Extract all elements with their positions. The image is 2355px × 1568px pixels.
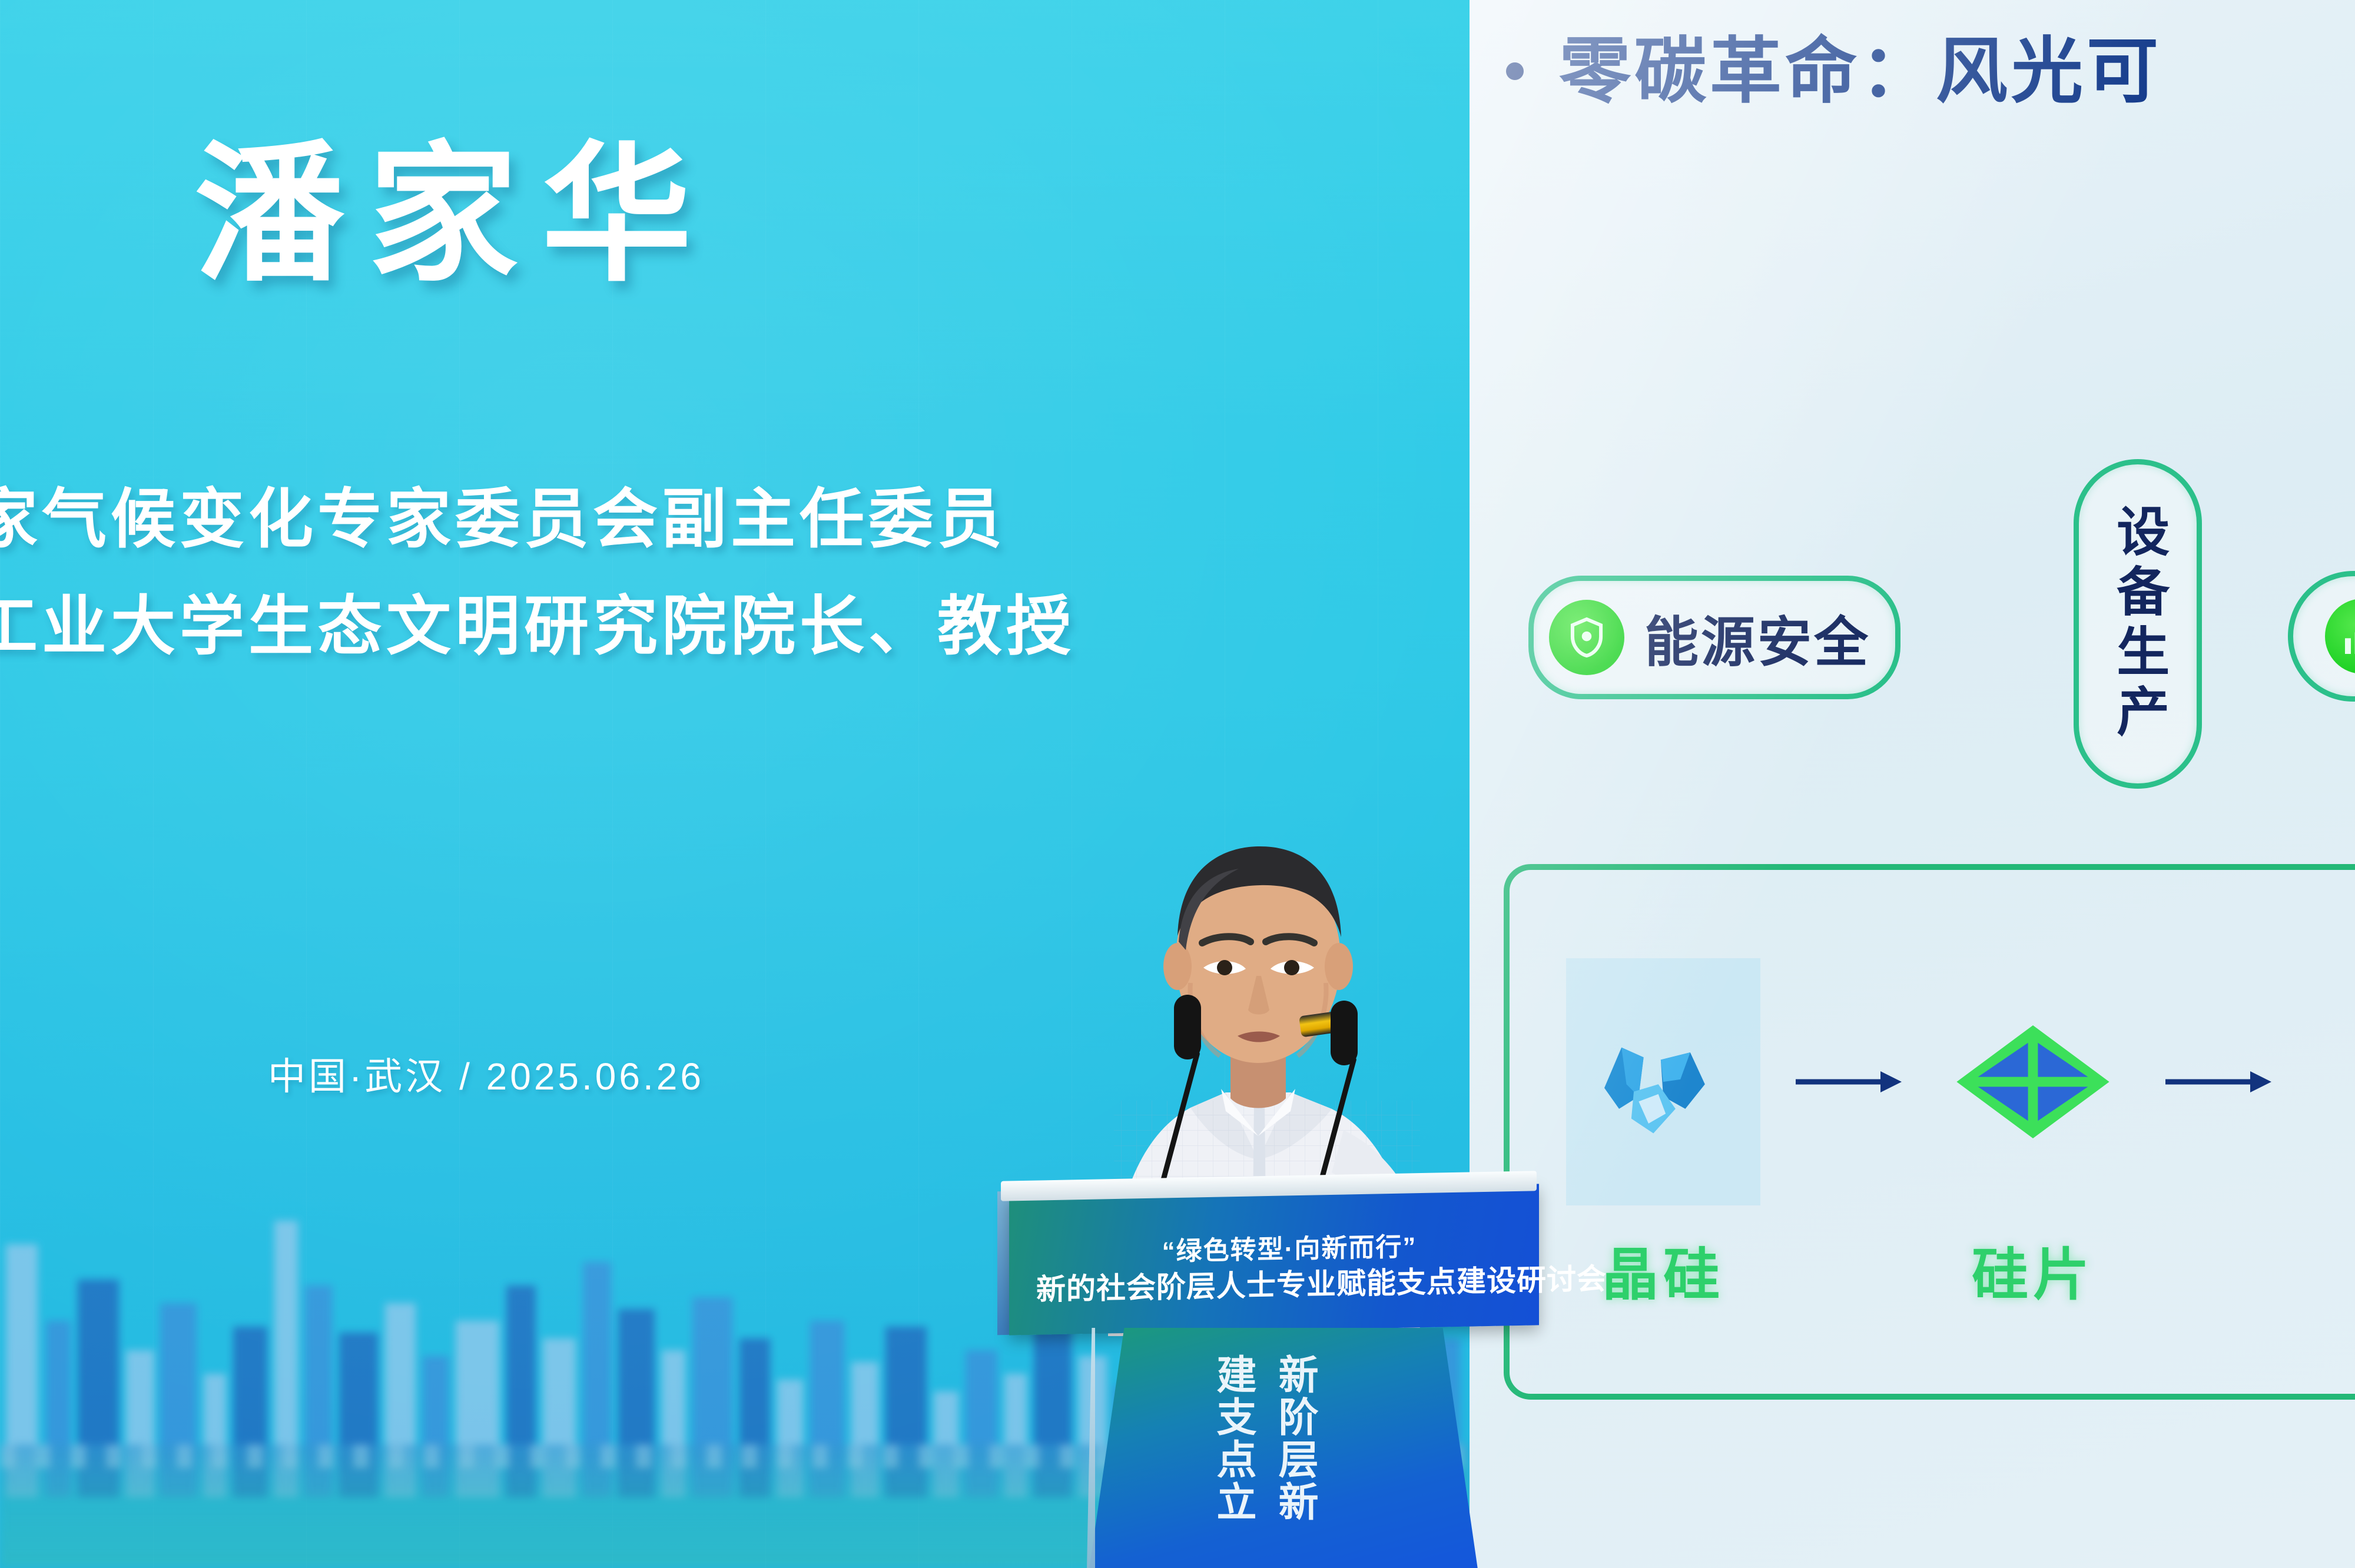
event-place-date: 中国·武汉 / 2025.06.26 xyxy=(268,1047,704,1101)
chain-step-wafer: 硅片 xyxy=(1936,958,2130,1311)
chain-step-polysilicon: 晶硅 xyxy=(1566,958,1760,1311)
speaker-name: 潘家华 xyxy=(194,140,715,290)
pill-label-energy-security: 能源安全 xyxy=(1644,599,1870,677)
conference-stage-photo: 潘家华 家气候变化专家委员会副主任委员 工业大学生态文明研究院院长、教授 中国·… xyxy=(0,0,2355,1568)
flow-arrow-icon-2 xyxy=(2162,1064,2274,1102)
projection-screen: 零碳革命：风光可 能源安全 设备生产 xyxy=(1470,0,2355,1568)
slide-bullet-text: 零碳革命：风光可 xyxy=(1559,35,2162,107)
pill-energy-security: 能源安全 xyxy=(1528,576,1900,699)
shield-icon xyxy=(1549,600,1624,675)
podium-slogan-column-right: 新阶层新 xyxy=(1269,1354,1320,1523)
silicon-wafer-icon xyxy=(1936,958,2130,1205)
slide-pill-group: 能源安全 设备生产 xyxy=(1505,471,2355,800)
podium-slogan-column-left: 建支点立 xyxy=(1207,1354,1258,1523)
bar-chart-growth-icon xyxy=(2325,599,2355,674)
podium-theme-block: “绿色转型·向新而行” 新的社会阶层人士专业赋能支点建设研讨会 xyxy=(1036,1230,1543,1307)
slide-bullet-row: 零碳革命：风光可 xyxy=(1506,35,2355,107)
speaker-title-line-2: 工业大学生态文明研究院院长、教授 xyxy=(0,594,1075,659)
podium-vertical-slogan: 建支点立 新阶层新 xyxy=(1207,1354,1320,1523)
pill-equipment-production: 设备生产 xyxy=(2074,459,2202,789)
speaker-title-line-1: 家气候变化专家委员会副主任委员 xyxy=(0,487,1006,552)
podium-column-edge xyxy=(1087,1328,1095,1568)
bullet-point-icon xyxy=(1506,62,1524,80)
supply-chain-flow: 晶硅 xyxy=(1566,958,2355,1317)
flow-arrow-icon xyxy=(1792,1064,1904,1102)
chain-label-wafer: 硅片 xyxy=(1972,1229,2094,1311)
podium: “绿色转型·向新而行” 新的社会阶层人士专业赋能支点建设研讨会 建支点立 新阶层… xyxy=(1001,1165,1548,1568)
pill-growth-metric xyxy=(2288,571,2355,702)
supply-chain-panel: 晶硅 xyxy=(1504,864,2355,1400)
microphone-left xyxy=(1172,995,1242,1183)
pill-label-equipment-production: 设备生产 xyxy=(2110,504,2166,744)
silicon-crystal-icon xyxy=(1566,958,1760,1205)
microphone-right xyxy=(1331,1001,1401,1189)
chain-label-polysilicon: 晶硅 xyxy=(1602,1229,1724,1311)
